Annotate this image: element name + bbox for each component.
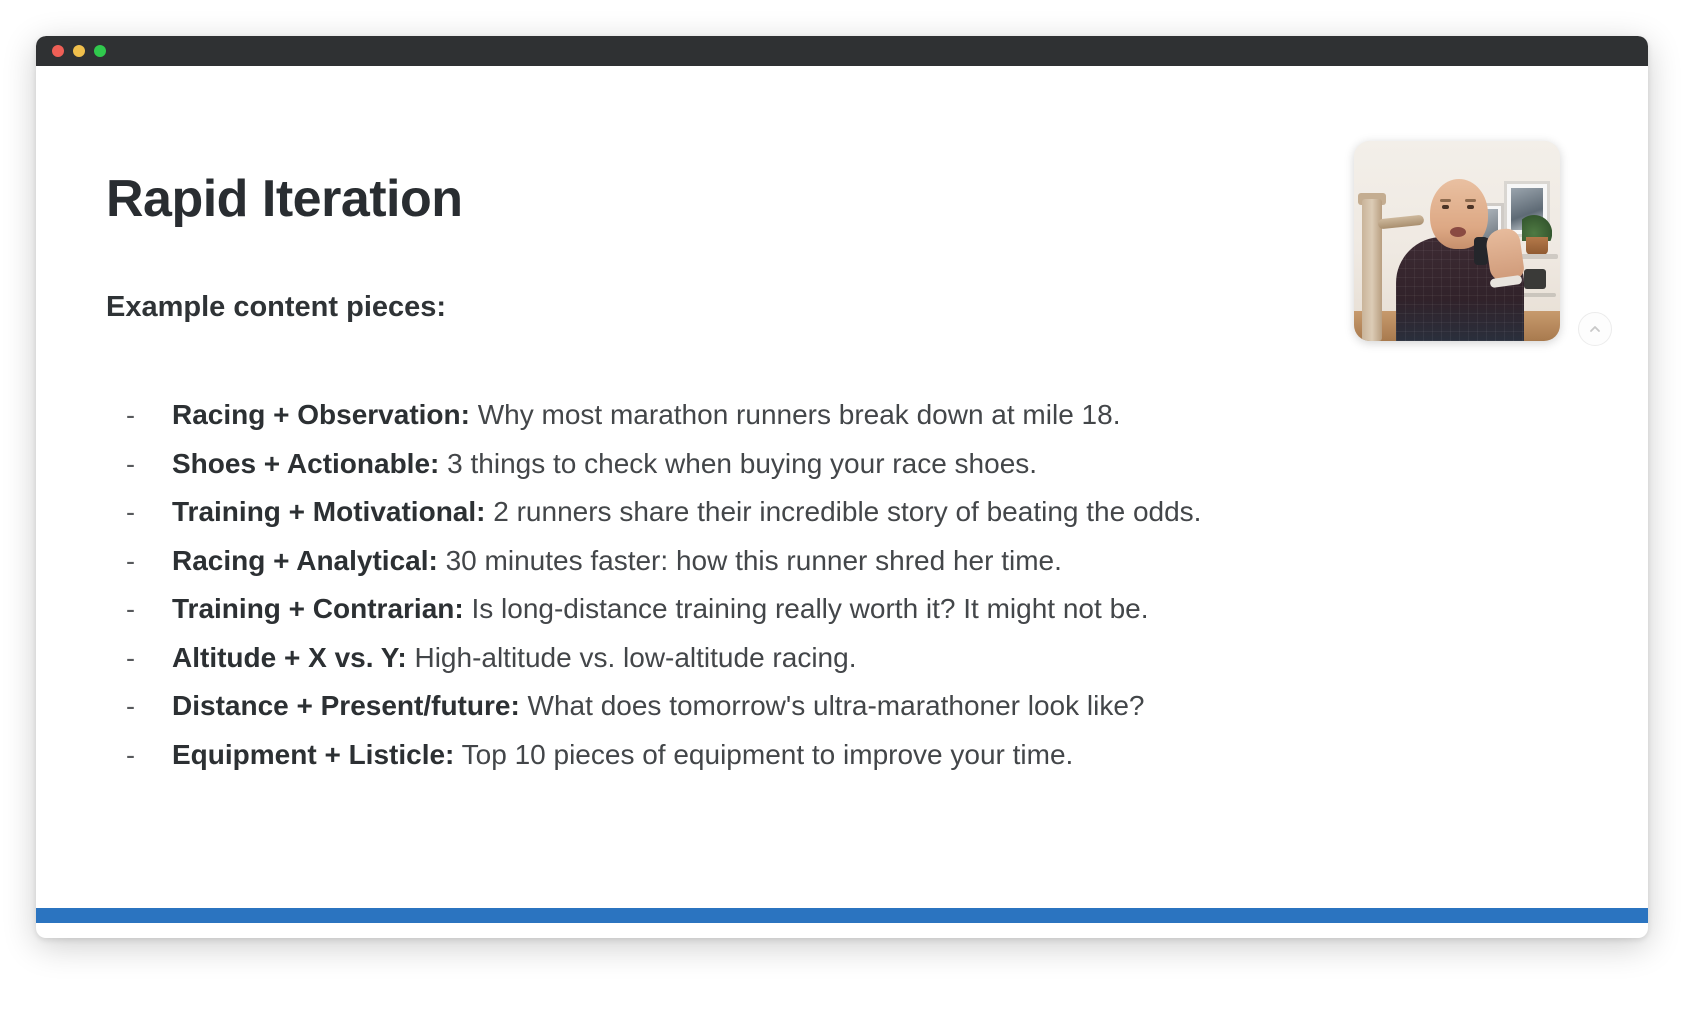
bullet-list: - Racing + Observation: Why most maratho…	[126, 401, 1608, 789]
webcam-plant-pot	[1526, 237, 1548, 255]
list-item-label: Distance + Present/future:	[172, 690, 520, 721]
webcam-basket	[1524, 269, 1546, 289]
list-item-label: Shoes + Actionable:	[172, 448, 439, 479]
list-item-text: Equipment + Listicle: Top 10 pieces of e…	[172, 741, 1073, 769]
list-item-body: Why most marathon runners break down at …	[470, 399, 1121, 430]
zoom-window-button[interactable]	[94, 45, 106, 57]
list-item-body: Top 10 pieces of equipment to improve yo…	[454, 739, 1073, 770]
presentation-window: Rapid Iteration Example content pieces: …	[36, 36, 1648, 938]
list-item-body: 3 things to check when buying your race …	[439, 448, 1037, 479]
list-item: - Racing + Observation: Why most maratho…	[126, 401, 1608, 450]
list-item-body: 2 runners share their incredible story o…	[485, 496, 1201, 527]
slide-subtitle: Example content pieces:	[106, 293, 446, 322]
list-item-label: Equipment + Listicle:	[172, 739, 454, 770]
presenter-webcam-video[interactable]	[1354, 141, 1560, 341]
chevron-up-icon	[1588, 322, 1602, 336]
webcam-person-eye-right	[1467, 205, 1474, 209]
webcam-person-brow-left	[1440, 199, 1451, 202]
list-item: - Racing + Analytical: 30 minutes faster…	[126, 547, 1608, 596]
bullet-marker-icon: -	[126, 451, 172, 478]
slide-canvas: Rapid Iteration Example content pieces: …	[36, 66, 1648, 923]
list-item-label: Racing + Analytical:	[172, 545, 438, 576]
bullet-marker-icon: -	[126, 645, 172, 672]
list-item-text: Training + Motivational: 2 runners share…	[172, 498, 1201, 526]
list-item-label: Training + Motivational:	[172, 496, 485, 527]
list-item-body: High-altitude vs. low-altitude racing.	[407, 642, 857, 673]
bullet-marker-icon: -	[126, 548, 172, 575]
list-item-text: Altitude + X vs. Y: High-altitude vs. lo…	[172, 644, 856, 672]
list-item-text: Shoes + Actionable: 3 things to check wh…	[172, 450, 1037, 478]
list-item-body: What does tomorrow's ultra-marathoner lo…	[520, 690, 1145, 721]
collapse-webcam-button[interactable]	[1578, 312, 1612, 346]
bullet-marker-icon: -	[126, 596, 172, 623]
list-item: - Equipment + Listicle: Top 10 pieces of…	[126, 741, 1608, 790]
list-item-label: Racing + Observation:	[172, 399, 470, 430]
list-item-body: Is long-distance training really worth i…	[464, 593, 1149, 624]
list-item: - Shoes + Actionable: 3 things to check …	[126, 450, 1608, 499]
minimize-window-button[interactable]	[73, 45, 85, 57]
bullet-marker-icon: -	[126, 693, 172, 720]
list-item-text: Racing + Observation: Why most marathon …	[172, 401, 1120, 429]
bullet-marker-icon: -	[126, 742, 172, 769]
list-item-text: Distance + Present/future: What does tom…	[172, 692, 1145, 720]
list-item-label: Training + Contrarian:	[172, 593, 464, 624]
list-item: - Altitude + X vs. Y: High-altitude vs. …	[126, 644, 1608, 693]
playback-progress-fill	[36, 908, 1648, 923]
playback-progress-track[interactable]	[36, 908, 1648, 923]
close-window-button[interactable]	[52, 45, 64, 57]
list-item: - Training + Contrarian: Is long-distanc…	[126, 595, 1608, 644]
window-titlebar	[36, 36, 1648, 66]
screenshot-root: Rapid Iteration Example content pieces: …	[0, 0, 1684, 1013]
list-item-text: Racing + Analytical: 30 minutes faster: …	[172, 547, 1062, 575]
webcam-person-mouth	[1450, 227, 1466, 237]
list-item: - Training + Motivational: 2 runners sha…	[126, 498, 1608, 547]
webcam-person-eye-left	[1442, 205, 1449, 209]
list-item-label: Altitude + X vs. Y:	[172, 642, 407, 673]
bullet-marker-icon: -	[126, 402, 172, 429]
page-title: Rapid Iteration	[106, 173, 463, 225]
webcam-person-brow-right	[1465, 199, 1476, 202]
bullet-marker-icon: -	[126, 499, 172, 526]
list-item: - Distance + Present/future: What does t…	[126, 692, 1608, 741]
list-item-text: Training + Contrarian: Is long-distance …	[172, 595, 1149, 623]
list-item-body: 30 minutes faster: how this runner shred…	[438, 545, 1062, 576]
